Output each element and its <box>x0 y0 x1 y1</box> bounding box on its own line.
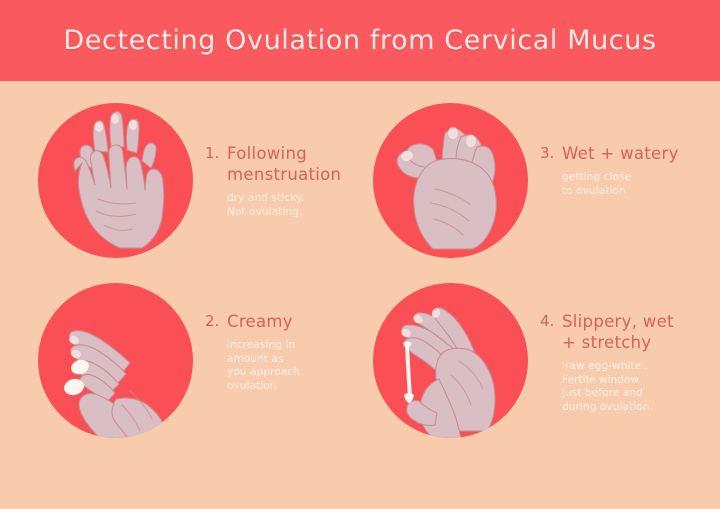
step-text-2: 2. Creamy increasing in amount as you ap… <box>193 283 300 393</box>
step-item-2[interactable]: 2. Creamy increasing in amount as you ap… <box>38 283 368 438</box>
stretchy-strand-hand-icon <box>373 283 528 438</box>
steps-grid: 1. Following menstruation dry and sticky… <box>0 81 720 509</box>
step-item-3[interactable]: 3. Wet + watery getting close to ovulati… <box>373 103 713 258</box>
step-number-4: 4. <box>540 311 562 331</box>
step-heading-1: Following menstruation <box>227 143 341 185</box>
step-heading-3: Wet + watery <box>562 143 679 164</box>
step-number-1: 1. <box>205 143 227 163</box>
step-text-3: 3. Wet + watery getting close to ovulati… <box>528 103 679 198</box>
watery-pinch-hand-icon <box>373 103 528 258</box>
step-item-1[interactable]: 1. Following menstruation dry and sticky… <box>38 103 368 258</box>
step-heading-4: Slippery, wet + stretchy <box>562 311 674 353</box>
step-subtext-3: getting close to ovulation <box>562 171 679 198</box>
step-text-1: 1. Following menstruation dry and sticky… <box>193 103 341 219</box>
step-subtext-2: increasing in amount as you approach ovu… <box>227 339 300 393</box>
page-title: Dectecting Ovulation from Cervical Mucus <box>63 25 656 56</box>
step-text-4: 4. Slippery, wet + stretchy 'raw egg-whi… <box>528 283 674 414</box>
step-number-3: 3. <box>540 143 562 163</box>
step-number-2: 2. <box>205 311 227 331</box>
creamy-mucus-hand-icon <box>38 283 193 438</box>
step-subtext-4: 'raw egg-white'. Fertile window just bef… <box>562 360 674 414</box>
step-heading-2: Creamy <box>227 311 300 332</box>
step-subtext-1: dry and sticky. Not ovulating. <box>227 192 341 219</box>
open-palm-hand-icon <box>38 103 193 258</box>
step-item-4[interactable]: 4. Slippery, wet + stretchy 'raw egg-whi… <box>373 283 718 438</box>
header-bar: Dectecting Ovulation from Cervical Mucus <box>0 0 720 81</box>
